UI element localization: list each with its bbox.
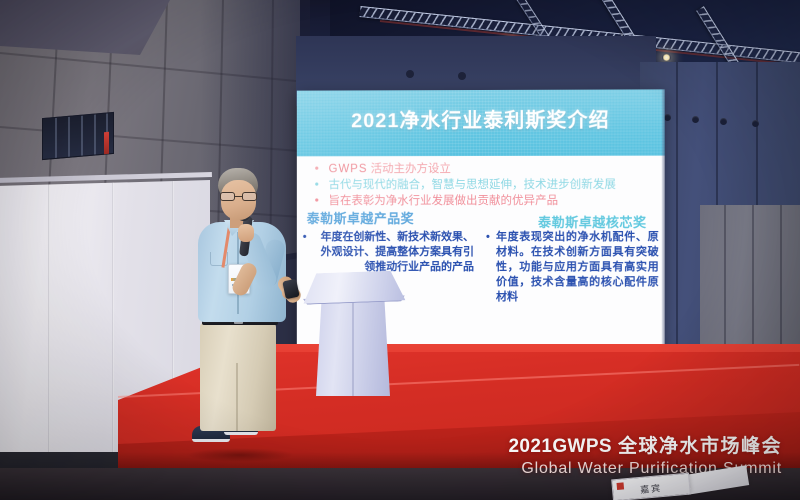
award-heading-core: 泰勒斯卓越核芯奖 xyxy=(538,212,647,231)
presentation-clicker xyxy=(282,279,299,300)
placard-text: 嘉宾 xyxy=(613,479,690,499)
spotlight xyxy=(662,54,671,61)
banner-title-chinese: 全球净水市场峰会 xyxy=(618,436,782,457)
screen-right-edge xyxy=(662,89,665,386)
speaker-hand-right xyxy=(238,224,254,242)
wall-fire-extinguisher xyxy=(104,132,109,154)
slide-bullet-1: GWPS 活动主办方设立 xyxy=(311,162,653,177)
award-heading-product: 泰勒斯卓越产品奖 xyxy=(307,208,414,227)
screenshot-root: 2021净水行业泰利斯奖介绍 GWPS 活动主办方设立 古代与现代的融合，智慧与… xyxy=(0,0,800,500)
banner-year-brand: 2021GWPS xyxy=(508,436,612,457)
eyeglasses-icon xyxy=(220,192,257,201)
slide-bullet-2: 古代与现代的融合，智慧与思想延伸，技术进步创新发展 xyxy=(311,178,653,192)
award-body-product: 年度在创新性、新技术新效果、外观设计、提高整体方案具有引领推动行业产品的产品 xyxy=(303,230,474,275)
slide-title: 2021净水行业泰利斯奖介绍 xyxy=(297,103,665,133)
slide-bullet-3: 旨在表彰为净水行业发展做出贡献的优异产品 xyxy=(311,194,653,208)
award-body-core: 年度表现突出的净水机配件、原材料。在技术创新方面具有突破性，功能与应用方面具有高… xyxy=(486,230,659,305)
award-headings: 泰勒斯卓越产品奖 泰勒斯卓越核芯奖 xyxy=(297,208,665,226)
slide-bullet-list: GWPS 活动主办方设立 古代与现代的融合，智慧与思想延伸，技术进步创新发展 旨… xyxy=(311,162,653,208)
podium-body xyxy=(316,292,390,396)
banner-title-cn: 2021GWPS全球净水市场峰会 xyxy=(508,431,782,458)
slide-bullet-1-text: 活动主办方设立 xyxy=(371,163,451,175)
speaker xyxy=(182,168,300,458)
slide-bullet-1-lead: GWPS xyxy=(329,163,368,175)
speaker-trousers xyxy=(200,323,276,431)
